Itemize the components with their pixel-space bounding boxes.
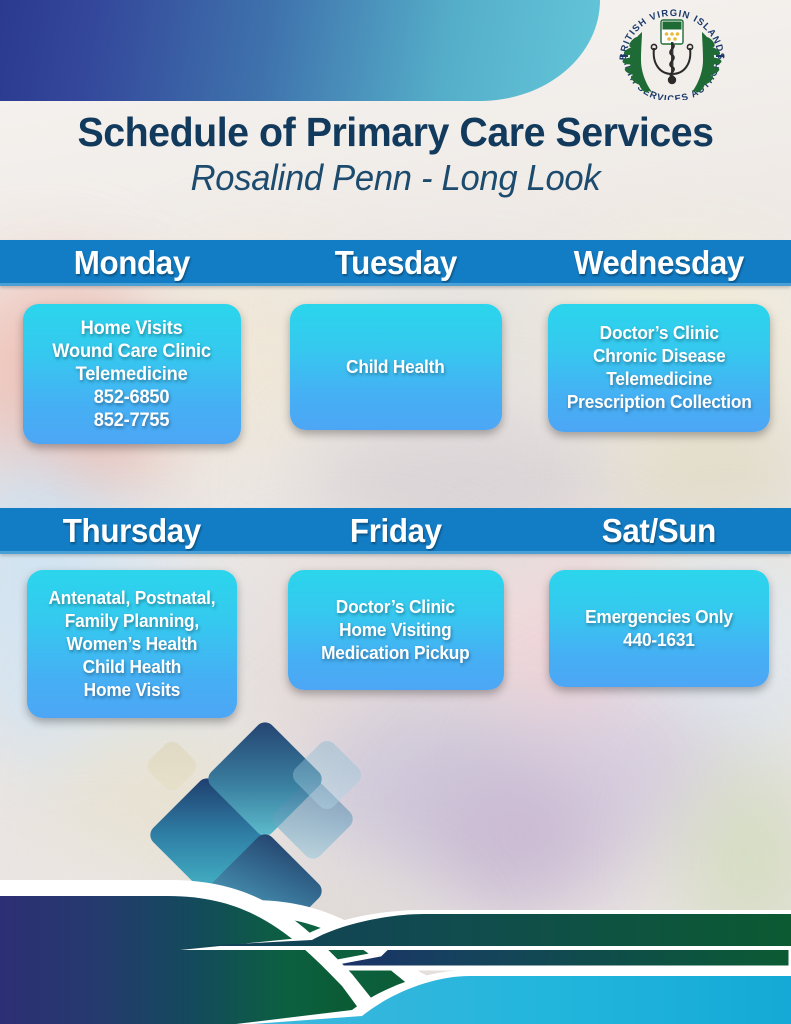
service-card-wednesday[interactable]: Doctor’s Clinic Chronic Disease Telemedi… <box>548 304 770 432</box>
service-card-row-2: Antenatal, Postnatal, Family Planning, W… <box>0 570 791 718</box>
bottom-ribbon-layers <box>0 814 791 1024</box>
day-header-row-1: Monday Tuesday Wednesday <box>0 240 791 286</box>
card-slot-friday: Doctor’s Clinic Home Visiting Medication… <box>264 570 528 718</box>
day-label-satsun: Sat/Sun <box>534 508 784 554</box>
service-card-row-1: Home Visits Wound Care Clinic Telemedici… <box>0 304 791 444</box>
service-list-tuesday: Child Health <box>346 356 445 379</box>
day-header-row-2: Thursday Friday Sat/Sun <box>0 508 791 554</box>
day-label-friday: Friday <box>270 508 520 554</box>
day-label-thursday: Thursday <box>7 508 257 554</box>
day-label-monday: Monday <box>7 240 257 286</box>
service-card-satsun[interactable]: Emergencies Only 440-1631 <box>549 570 769 687</box>
day-label-wednesday: Wednesday <box>534 240 784 286</box>
service-card-tuesday[interactable]: Child Health <box>290 304 502 430</box>
card-slot-satsun: Emergencies Only 440-1631 <box>527 570 791 718</box>
card-slot-monday: Home Visits Wound Care Clinic Telemedici… <box>0 304 264 444</box>
card-slot-thursday: Antenatal, Postnatal, Family Planning, W… <box>0 570 264 718</box>
service-list-friday: Doctor’s Clinic Home Visiting Medication… <box>321 596 469 665</box>
service-list-thursday: Antenatal, Postnatal, Family Planning, W… <box>48 587 215 702</box>
page-title: Schedule of Primary Care Services <box>16 108 775 156</box>
service-card-monday[interactable]: Home Visits Wound Care Clinic Telemedici… <box>23 304 241 444</box>
page-subtitle: Rosalind Penn - Long Look <box>16 156 775 200</box>
service-list-monday: Home Visits Wound Care Clinic Telemedici… <box>53 317 212 432</box>
title-block: Schedule of Primary Care Services Rosali… <box>0 108 791 200</box>
service-card-thursday[interactable]: Antenatal, Postnatal, Family Planning, W… <box>27 570 237 718</box>
service-card-friday[interactable]: Doctor’s Clinic Home Visiting Medication… <box>288 570 504 690</box>
service-list-wednesday: Doctor’s Clinic Chronic Disease Telemedi… <box>567 322 752 414</box>
service-list-satsun: Emergencies Only 440-1631 <box>585 606 733 652</box>
card-slot-wednesday: Doctor’s Clinic Chronic Disease Telemedi… <box>527 304 791 444</box>
bvi-hsa-seal-icon: BRITISH VIRGIN ISLANDS HEALTH SERVICES A… <box>608 8 736 100</box>
day-label-tuesday: Tuesday <box>270 240 520 286</box>
poster-canvas: British Virgin Islands Health Services A… <box>0 0 791 1024</box>
card-slot-tuesday: Child Health <box>264 304 528 444</box>
